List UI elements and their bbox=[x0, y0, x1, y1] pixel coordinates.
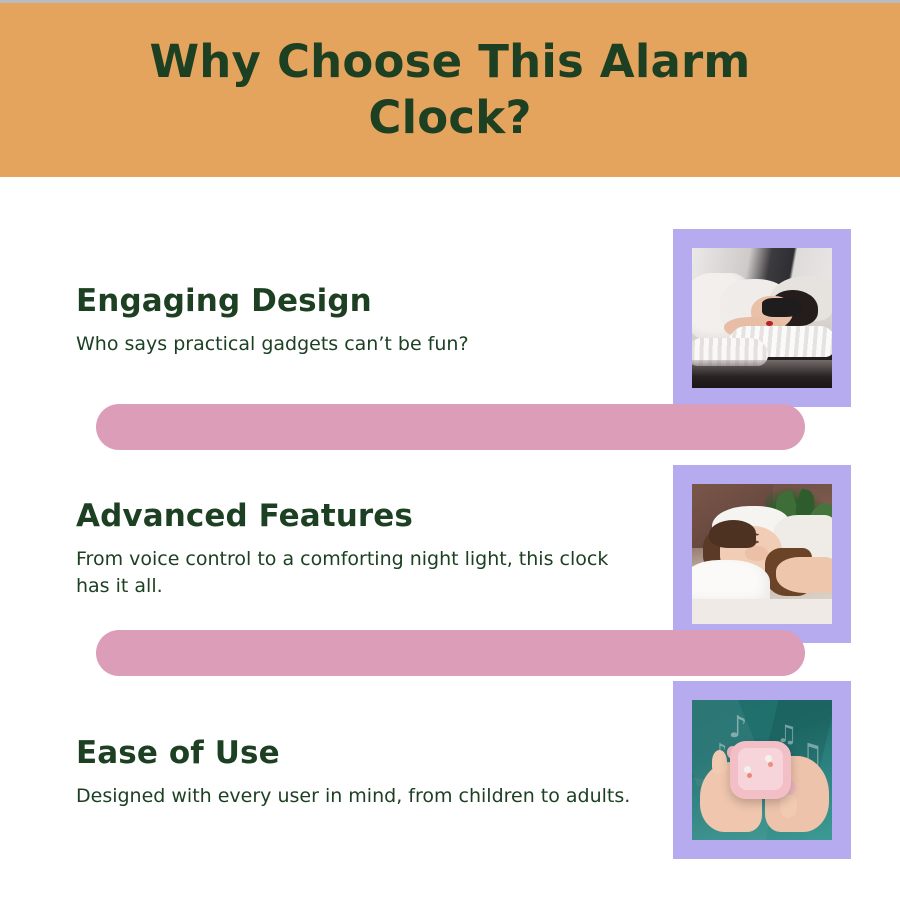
divider-pill-1 bbox=[96, 404, 805, 450]
photo-woman-asleep-pillow bbox=[692, 484, 832, 624]
photo-frame-engaging-design bbox=[673, 229, 851, 407]
feature-title-engaging-design: Engaging Design bbox=[76, 282, 469, 320]
feature-block-engaging-design: Engaging Design Who says practical gadge… bbox=[76, 282, 469, 358]
feature-description-advanced-features: From voice control to a comforting night… bbox=[76, 546, 636, 600]
top-edge-rule bbox=[0, 0, 900, 3]
divider-pill-2 bbox=[96, 630, 805, 676]
photo-pink-alarm-clock-in-hands: ♪ ♫ ♫ ♪ ♪ ♫ ♪ bbox=[692, 700, 832, 840]
header-banner: Why Choose This Alarm Clock? bbox=[0, 3, 900, 177]
feature-block-ease-of-use: Ease of Use Designed with every user in … bbox=[76, 734, 630, 810]
feature-block-advanced-features: Advanced Features From voice control to … bbox=[76, 497, 636, 600]
feature-title-ease-of-use: Ease of Use bbox=[76, 734, 630, 772]
content-area: ♪ ♫ ♫ ♪ ♪ ♫ ♪ bbox=[0, 177, 900, 923]
feature-description-engaging-design: Who says practical gadgets can’t be fun? bbox=[76, 331, 469, 358]
feature-description-ease-of-use: Designed with every user in mind, from c… bbox=[76, 783, 630, 810]
feature-title-advanced-features: Advanced Features bbox=[76, 497, 636, 535]
photo-frame-advanced-features bbox=[673, 465, 851, 643]
music-note-icon: ♪ bbox=[728, 713, 747, 743]
page-title: Why Choose This Alarm Clock? bbox=[100, 34, 800, 146]
photo-sleeping-woman-eyemask bbox=[692, 248, 832, 388]
photo-frame-ease-of-use: ♪ ♫ ♫ ♪ ♪ ♫ ♪ bbox=[673, 681, 851, 859]
infographic-page: Why Choose This Alarm Clock? bbox=[0, 0, 900, 923]
